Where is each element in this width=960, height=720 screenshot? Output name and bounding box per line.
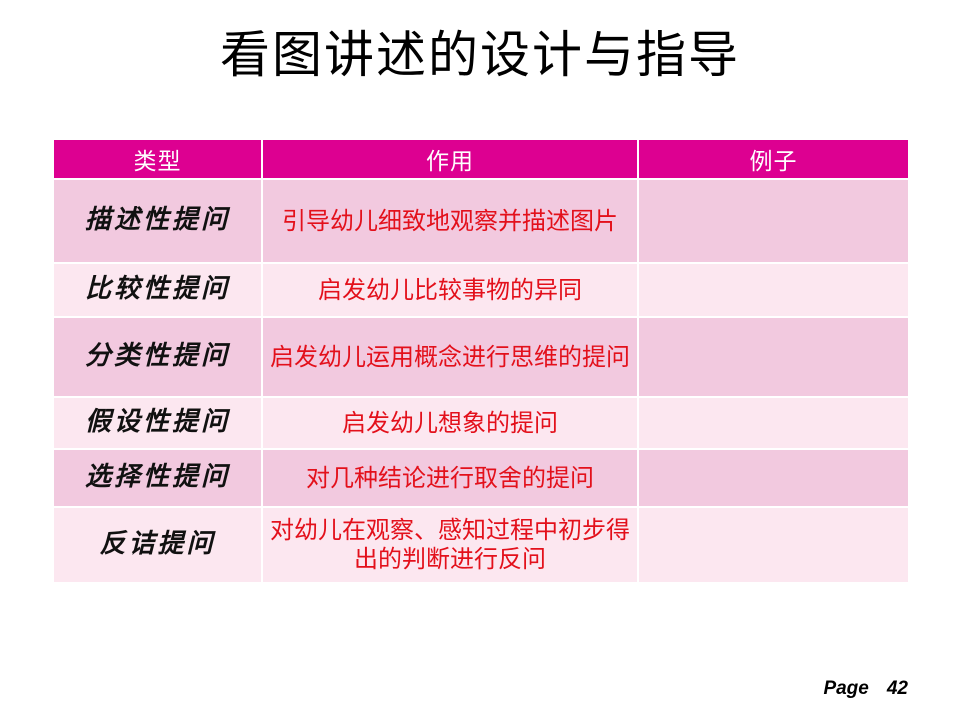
table-row: 反诘提问 对幼儿在观察、感知过程中初步得出的判断进行反问 (54, 508, 908, 582)
cell-type: 比较性提问 (54, 264, 261, 316)
table-header-row: 类型 作用 例子 (54, 140, 908, 178)
cell-type: 分类性提问 (54, 318, 261, 396)
slide-footer: Page42 (0, 678, 908, 700)
cell-example (639, 450, 908, 506)
table-row: 比较性提问 启发幼儿比较事物的异同 (54, 264, 908, 316)
table-row: 分类性提问 启发幼儿运用概念进行思维的提问 (54, 318, 908, 396)
table-row: 选择性提问 对几种结论进行取舍的提问 (54, 450, 908, 506)
column-header-example: 例子 (639, 140, 908, 178)
cell-role: 引导幼儿细致地观察并描述图片 (263, 180, 637, 262)
page-title: 看图讲述的设计与指导 (0, 22, 960, 88)
cell-role: 启发幼儿运用概念进行思维的提问 (263, 318, 637, 396)
table-row: 描述性提问 引导幼儿细致地观察并描述图片 (54, 180, 908, 262)
slide-canvas: 看图讲述的设计与指导 类型 作用 例子 描述性提问 引导幼儿细致地观察并描述图片 (0, 0, 960, 720)
cell-example (639, 398, 908, 448)
question-types-table-wrap: 类型 作用 例子 描述性提问 引导幼儿细致地观察并描述图片 比较性提问 启发幼儿… (52, 138, 908, 584)
cell-type: 假设性提问 (54, 398, 261, 448)
cell-role: 启发幼儿想象的提问 (263, 398, 637, 448)
cell-role: 对幼儿在观察、感知过程中初步得出的判断进行反问 (263, 508, 637, 582)
column-header-type: 类型 (54, 140, 261, 178)
cell-example (639, 508, 908, 582)
table-body: 描述性提问 引导幼儿细致地观察并描述图片 比较性提问 启发幼儿比较事物的异同 分… (54, 180, 908, 582)
cell-example (639, 180, 908, 262)
cell-type: 选择性提问 (54, 450, 261, 506)
table-row: 假设性提问 启发幼儿想象的提问 (54, 398, 908, 448)
table-header: 类型 作用 例子 (54, 140, 908, 178)
cell-example (639, 264, 908, 316)
cell-type: 描述性提问 (54, 180, 261, 262)
question-types-table: 类型 作用 例子 描述性提问 引导幼儿细致地观察并描述图片 比较性提问 启发幼儿… (52, 138, 910, 584)
cell-role: 对几种结论进行取舍的提问 (263, 450, 637, 506)
page-label: Page (823, 678, 868, 699)
cell-example (639, 318, 908, 396)
column-header-role: 作用 (263, 140, 637, 178)
cell-type: 反诘提问 (54, 508, 261, 582)
cell-role: 启发幼儿比较事物的异同 (263, 264, 637, 316)
page-number: 42 (887, 678, 908, 699)
